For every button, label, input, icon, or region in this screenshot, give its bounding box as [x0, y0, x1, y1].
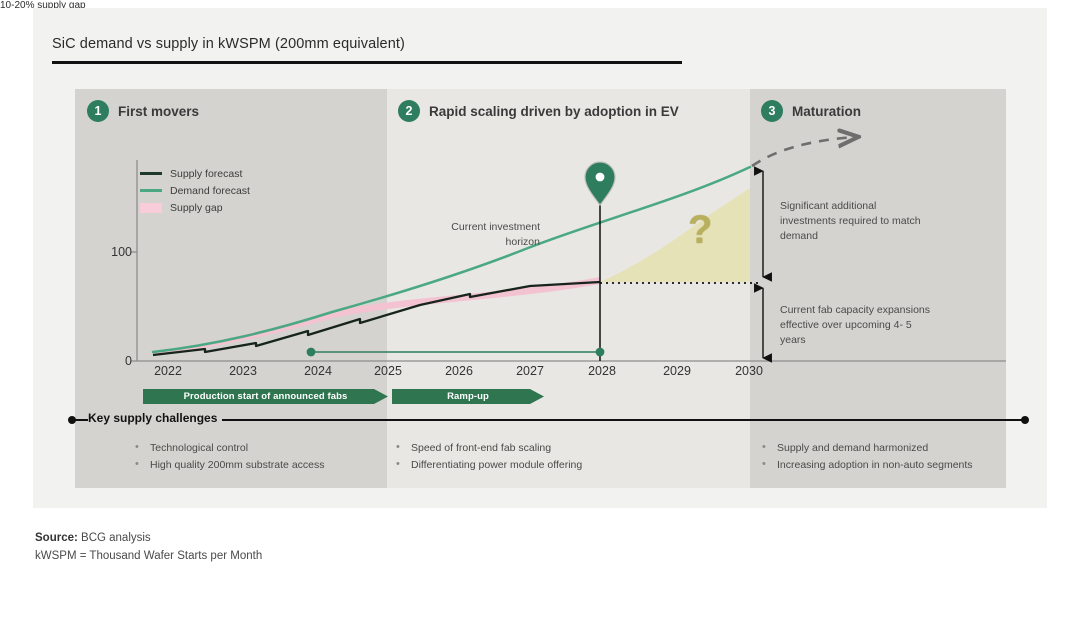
- footer-source-line: Source: BCG analysis: [35, 530, 262, 548]
- future-investment-region: [600, 188, 750, 282]
- x-tick-label-2023: 2023: [221, 364, 265, 378]
- x-tick-label-2025: 2025: [366, 364, 410, 378]
- supply-gap-endpoint-left: [307, 348, 316, 357]
- y-tick-label-0: 0: [96, 354, 132, 368]
- question-mark-icon: ?: [688, 208, 712, 253]
- annotation-investment-horizon: Current investment horizon: [428, 220, 540, 250]
- map-pin-icon: [585, 162, 615, 205]
- extrapolated-demand-arrow: [752, 137, 856, 166]
- footer-notes: Source: BCG analysis kWSPM = Thousand Wa…: [35, 530, 262, 566]
- x-tick-label-2028: 2028: [580, 364, 624, 378]
- timeline-bar-text-1: Production start of announced fabs: [184, 391, 348, 402]
- x-tick-label-2026: 2026: [437, 364, 481, 378]
- key-challenges-column-3: Supply and demand harmonized Increasing …: [762, 440, 973, 474]
- y-tick-label-100: 100: [96, 245, 132, 259]
- annotation-significant-investments: Significant additional investments requi…: [780, 199, 926, 244]
- supply-gap-endpoint-right: [596, 348, 605, 357]
- timeline-bar-text-2: Ramp-up: [447, 391, 489, 402]
- list-item: Supply and demand harmonized: [762, 440, 973, 457]
- key-challenges-label: Key supply challenges: [88, 411, 222, 425]
- list-item: Differentiating power module offering: [396, 457, 582, 474]
- list-item: Increasing adoption in non-auto segments: [762, 457, 973, 474]
- footer-source-label: Source:: [35, 532, 78, 544]
- footer-source-value: BCG analysis: [78, 532, 151, 544]
- list-item: High quality 200mm substrate access: [135, 457, 325, 474]
- x-tick-label-2022: 2022: [146, 364, 190, 378]
- x-tick-label-2027: 2027: [508, 364, 552, 378]
- timeline-bar-label-1: Production start of announced fabs: [143, 389, 388, 404]
- x-tick-label-2024: 2024: [296, 364, 340, 378]
- x-tick-label-2030: 2030: [727, 364, 771, 378]
- list-item: Technological control: [135, 440, 325, 457]
- annotation-current-fab-capacity: Current fab capacity expansions effectiv…: [780, 303, 930, 348]
- list-item: Speed of front-end fab scaling: [396, 440, 582, 457]
- x-tick-label-2029: 2029: [655, 364, 699, 378]
- key-challenges-column-2: Speed of front-end fab scaling Different…: [396, 440, 582, 474]
- supply-gap-band: [153, 277, 600, 355]
- key-challenges-column-1: Technological control High quality 200mm…: [135, 440, 325, 474]
- timeline-bar-label-2: Ramp-up: [392, 389, 544, 404]
- footer-note: kWSPM = Thousand Wafer Starts per Month: [35, 548, 262, 566]
